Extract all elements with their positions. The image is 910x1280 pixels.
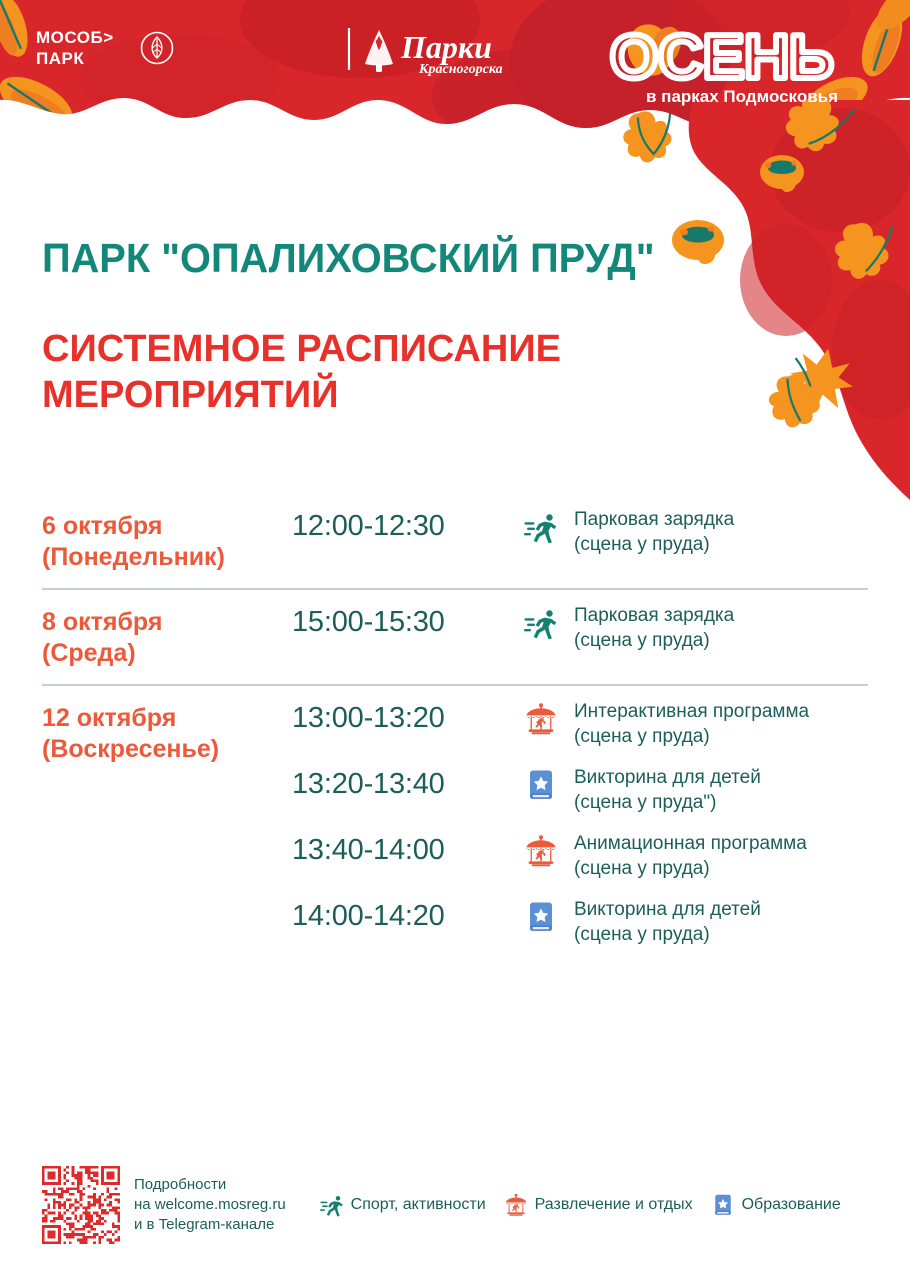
event-name: Интерактивная программа: [574, 700, 868, 724]
mosoblpark-chevron-icon: >: [103, 28, 113, 47]
events-column: 13:00-13:20 Интерактивная программа (сце…: [292, 700, 868, 964]
osen-title-outline: ОСЕНЬ: [610, 23, 834, 92]
osen-sub-text: в парках Подмосковья: [646, 87, 838, 106]
book-icon: [524, 768, 558, 802]
schedule-group: 12 октября (Воскресенье)13:00-13:20 Инте…: [42, 684, 868, 978]
mosoblpark-line1: МОСОБ: [36, 28, 103, 47]
event-place: (сцена у пруда): [574, 856, 868, 882]
event-category-icon: [524, 766, 568, 802]
event-row: 14:00-14:20 Викторина для детей (сцена у…: [292, 898, 868, 960]
mushroom-icon: [672, 220, 724, 264]
event-name: Парковая зарядка: [574, 604, 868, 628]
event-time: 13:20-13:40: [292, 766, 524, 802]
event-details: Викторина для детей (сцена у пруда): [568, 898, 868, 948]
event-row: 15:00-15:30 Парковая зарядка (сцена у пр…: [292, 604, 868, 666]
qr-caption-line2: на welcome.mosreg.ru: [134, 1195, 286, 1215]
legend-item: Спорт, активности: [320, 1193, 486, 1217]
osen-logo: ОСЕНЬ в парках Подмосковья: [606, 16, 872, 108]
mosoblpark-line2: ПАРК: [36, 49, 84, 68]
qr-code[interactable]: [42, 1166, 120, 1244]
event-category-icon: [524, 832, 568, 868]
schedule-date: 8 октября (Среда): [42, 604, 292, 669]
event-category-icon: [524, 898, 568, 934]
parki-krasnogorska-logo: Парки Красногорска: [345, 22, 545, 84]
qr-block: Подробности на welcome.mosreg.ru и в Tel…: [42, 1166, 286, 1244]
event-place: (сцена у пруда"): [574, 790, 868, 816]
parki-main-text: Парки: [400, 29, 492, 65]
carousel-icon: [524, 834, 558, 868]
event-name: Анимационная программа: [574, 832, 868, 856]
schedule-date: 6 октября (Понедельник): [42, 508, 292, 573]
mosoblpark-logo: МОСОБ> ПАРК: [36, 27, 114, 69]
legend-item: Развлечение и отдых: [504, 1193, 693, 1217]
event-time: 13:40-14:00: [292, 832, 524, 868]
runner-icon: [320, 1193, 344, 1217]
event-details: Анимационная программа (сцена у пруда): [568, 832, 868, 882]
legend-label: Спорт, активности: [351, 1195, 486, 1215]
date-text: 8 октября: [42, 607, 292, 638]
poster-root: МОСОБ> ПАРК Парки Красногорска: [0, 0, 910, 1280]
legend-label: Образование: [742, 1195, 841, 1215]
event-details: Парковая зарядка (сцена у пруда): [568, 604, 868, 654]
event-name: Викторина для детей: [574, 766, 868, 790]
event-time: 12:00-12:30: [292, 508, 524, 544]
date-text: 12 октября: [42, 703, 292, 734]
event-row: 12:00-12:30 Парковая зарядка (сцена у пр…: [292, 508, 868, 570]
qr-caption: Подробности на welcome.mosreg.ru и в Tel…: [134, 1175, 286, 1235]
event-category-icon: [524, 604, 568, 640]
category-legend: Спорт, активности Развлечение и отдых Об…: [320, 1193, 841, 1217]
event-name: Викторина для детей: [574, 898, 868, 922]
event-place: (сцена у пруда): [574, 628, 868, 654]
event-row: 13:00-13:20 Интерактивная программа (сце…: [292, 700, 868, 762]
book-icon: [711, 1193, 735, 1217]
event-time: 13:00-13:20: [292, 700, 524, 736]
weekday-text: (Понедельник): [42, 542, 292, 573]
runner-icon: [524, 510, 558, 544]
weekday-text: (Воскресенье): [42, 734, 292, 765]
parki-sub-text: Красногорска: [418, 62, 503, 77]
qr-caption-line1: Подробности: [134, 1175, 286, 1195]
event-time: 15:00-15:30: [292, 604, 524, 640]
leaf-circle-icon: [140, 31, 174, 65]
carousel-icon: [504, 1193, 528, 1217]
event-details: Парковая зарядка (сцена у пруда): [568, 508, 868, 558]
schedule-list: 6 октября (Понедельник)12:00-12:30 Парко…: [42, 508, 868, 978]
events-column: 15:00-15:30 Парковая зарядка (сцена у пр…: [292, 604, 868, 670]
runner-icon: [524, 606, 558, 640]
date-text: 6 октября: [42, 511, 292, 542]
event-category-icon: [524, 508, 568, 544]
event-row: 13:40-14:00 Анимационная программа (сцен…: [292, 832, 868, 894]
event-details: Интерактивная программа (сцена у пруда): [568, 700, 868, 750]
book-icon: [524, 900, 558, 934]
carousel-icon: [524, 702, 558, 736]
poster-footer: Подробности на welcome.mosreg.ru и в Tel…: [42, 1166, 872, 1244]
event-time: 14:00-14:20: [292, 898, 524, 934]
schedule-group: 8 октября (Среда)15:00-15:30 Парковая за…: [42, 588, 868, 684]
legend-label: Развлечение и отдых: [535, 1195, 693, 1215]
weekday-text: (Среда): [42, 638, 292, 669]
schedule-date: 12 октября (Воскресенье): [42, 700, 292, 765]
park-title: ПАРК "ОПАЛИХОВСКИЙ ПРУД": [42, 232, 655, 284]
event-place: (сцена у пруда): [574, 724, 868, 750]
qr-caption-line3: и в Telegram-канале: [134, 1215, 286, 1235]
event-row: 13:20-13:40 Викторина для детей (сцена у…: [292, 766, 868, 828]
event-name: Парковая зарядка: [574, 508, 868, 532]
schedule-group: 6 октября (Понедельник)12:00-12:30 Парко…: [42, 508, 868, 588]
header-band: МОСОБ> ПАРК Парки Красногорска: [0, 0, 910, 128]
schedule-title-line2: МЕРОПРИЯТИЙ: [42, 372, 674, 418]
schedule-title-line1: СИСТЕМНОЕ РАСПИСАНИЕ: [42, 326, 674, 372]
events-column: 12:00-12:30 Парковая зарядка (сцена у пр…: [292, 508, 868, 574]
event-place: (сцена у пруда): [574, 922, 868, 948]
schedule-title: СИСТЕМНОЕ РАСПИСАНИЕ МЕРОПРИЯТИЙ: [42, 326, 674, 418]
event-category-icon: [524, 700, 568, 736]
titles-block: ПАРК "ОПАЛИХОВСКИЙ ПРУД" СИСТЕМНОЕ РАСПИ…: [42, 232, 674, 418]
header-logos: МОСОБ> ПАРК Парки Красногорска: [0, 0, 910, 120]
oak-leaf-decoration: [756, 356, 830, 436]
legend-item: Образование: [711, 1193, 841, 1217]
event-place: (сцена у пруда): [574, 532, 868, 558]
event-details: Викторина для детей (сцена у пруда"): [568, 766, 868, 816]
